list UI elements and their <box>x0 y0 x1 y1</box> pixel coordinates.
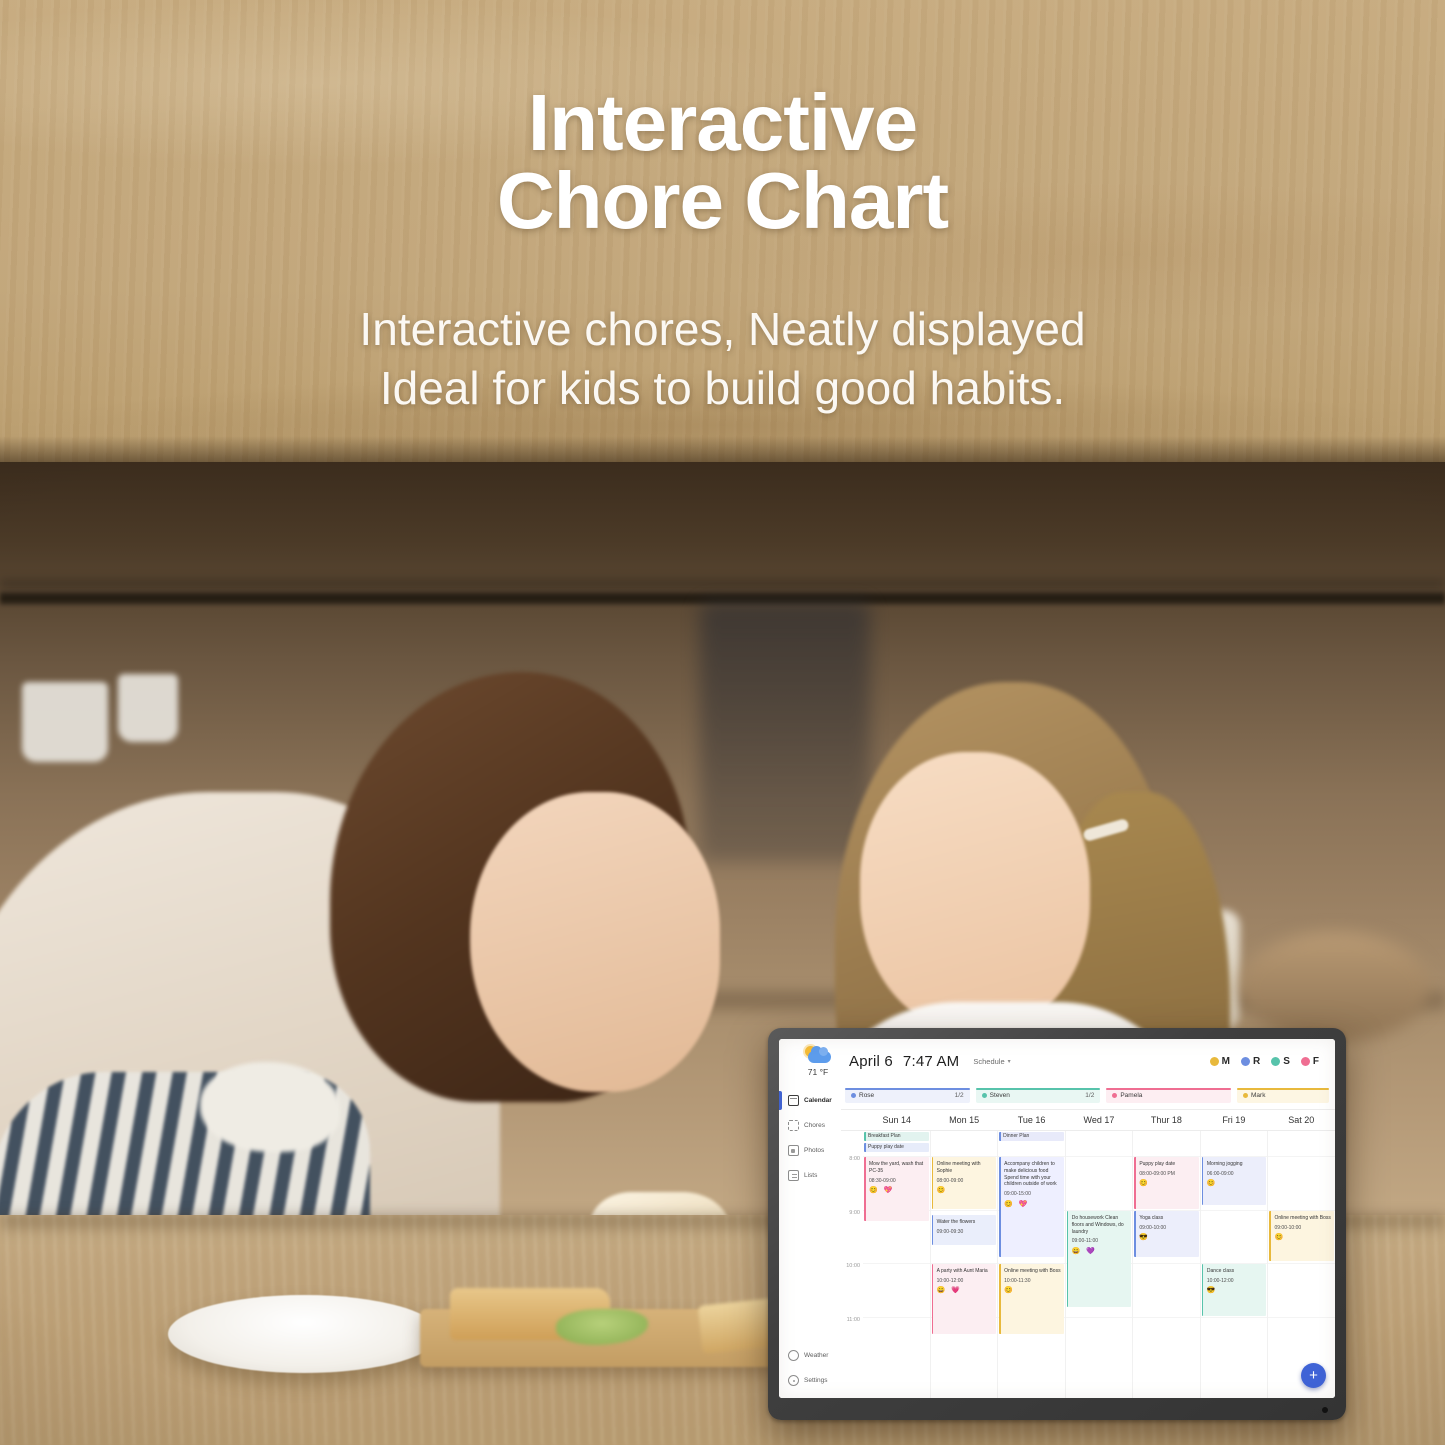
avatar-letter: M <box>1222 1056 1230 1067</box>
calendar-main: Rose 1/2 Steven 1/2 <box>841 1083 1335 1398</box>
avatar-dot <box>1301 1057 1310 1066</box>
event-title: Mow the yard, wash that PC-35 <box>869 1161 926 1175</box>
event-emojis: 😊 <box>1004 1287 1061 1294</box>
event-emojis: 😊 <box>1274 1234 1331 1241</box>
event-time: 08:00-09:00 PM <box>1139 1171 1196 1178</box>
all-day-event[interactable]: Breakfast Plan <box>864 1132 929 1141</box>
app-top-bar: 71 °F April 6 7:47 AM Schedule ▾ M R <box>779 1039 1335 1083</box>
event-accent <box>1202 1264 1204 1316</box>
calendar-event[interactable]: Water the flowers 09:00-09:30 <box>932 1215 997 1245</box>
avatar-letter: R <box>1253 1056 1260 1067</box>
member-name: Steven <box>990 1092 1010 1099</box>
day-header-row: Sun 14 Mon 15 Tue 16 Wed 17 Thur 18 Fri … <box>841 1109 1335 1131</box>
event-title: Accompany children to make delicious foo… <box>1004 1161 1061 1188</box>
member-name: Mark <box>1251 1092 1265 1099</box>
event-title: Online meeting with Boss <box>1004 1268 1061 1275</box>
event-time: 10:00-11:30 <box>1004 1278 1061 1285</box>
day-header-thur[interactable]: Thur 18 <box>1133 1110 1200 1130</box>
event-time: 09:00-10:00 <box>1274 1225 1331 1232</box>
event-accent <box>999 1157 1001 1257</box>
day-header-tue[interactable]: Tue 16 <box>998 1110 1065 1130</box>
time-gutter-spacer <box>841 1110 863 1130</box>
calendar-event[interactable]: Do housework Clean floors and Windows, d… <box>1067 1211 1132 1307</box>
event-accent <box>1202 1157 1204 1205</box>
member-name-wrap: Mark <box>1243 1092 1265 1099</box>
all-day-event[interactable]: Dinner Plan <box>999 1132 1064 1141</box>
event-accent <box>1269 1211 1271 1261</box>
calendar-event[interactable]: Puppy play date 08:00-09:00 PM 😊 <box>1134 1157 1199 1209</box>
sidebar-item-calendar[interactable]: Calendar <box>779 1088 841 1113</box>
chevron-down-icon: ▾ <box>1008 1058 1011 1065</box>
sidebar-item-settings[interactable]: Settings <box>779 1368 841 1398</box>
calendar-event[interactable]: A party with Aunt Maria 10:00-12:00 😄 💗 <box>932 1264 997 1334</box>
time-label: 10:00 <box>846 1263 860 1269</box>
member-accent-bar <box>845 1088 970 1090</box>
gear-icon <box>788 1375 799 1386</box>
banner-bottom-shadow <box>0 436 1445 462</box>
subheadline-line-1: Interactive chores, Neatly displayed <box>359 303 1085 355</box>
subheadline-line-2: Ideal for kids to build good habits. <box>380 362 1065 414</box>
family-calendar-tablet: 71 °F April 6 7:47 AM Schedule ▾ M R <box>768 1028 1346 1420</box>
headline-line-2: Chore Chart <box>0 162 1445 240</box>
view-selector-label: Schedule <box>973 1057 1004 1066</box>
event-title: Water the flowers <box>937 1219 994 1226</box>
event-accent <box>999 1264 1001 1334</box>
chores-icon <box>788 1120 799 1131</box>
time-label: 9:00 <box>849 1210 860 1216</box>
member-accent-bar <box>1237 1088 1329 1090</box>
event-accent <box>932 1215 934 1245</box>
day-header-sat[interactable]: Sat 20 <box>1268 1110 1335 1130</box>
event-time: 08:00-09:00 <box>937 1178 994 1185</box>
event-accent <box>999 1132 1001 1141</box>
day-columns: Breakfast Plan Puppy play date Mow the y… <box>863 1131 1335 1398</box>
member-dot <box>1243 1093 1248 1098</box>
event-accent <box>864 1143 866 1152</box>
event-emojis: 😊 <box>937 1187 994 1194</box>
event-time: 09:00-10:00 <box>1139 1225 1196 1232</box>
member-card-steven[interactable]: Steven 1/2 <box>976 1088 1101 1103</box>
calendar-event[interactable]: Morning jogging 06:00-09:00 😊 <box>1202 1157 1267 1205</box>
event-time: 08:30-09:00 <box>869 1178 926 1185</box>
calendar-event[interactable]: Dance class 10:00-12:00 😎 <box>1202 1264 1267 1316</box>
sidebar-spacer <box>779 1188 841 1343</box>
event-time: 06:00-09:00 <box>1207 1171 1264 1178</box>
event-title: A party with Aunt Maria <box>937 1268 994 1275</box>
sidebar-item-label: Settings <box>804 1377 828 1384</box>
event-emojis: 😄 💜 <box>1072 1248 1129 1255</box>
camera-dot <box>1322 1407 1328 1413</box>
member-name: Rose <box>859 1092 874 1099</box>
time-label: 11:00 <box>847 1317 860 1323</box>
app-body: Calendar Chores Photos Lists <box>779 1083 1335 1398</box>
avatar-dot <box>1241 1057 1250 1066</box>
event-emojis: 😊 💖 <box>869 1187 926 1194</box>
event-time: 09:00-15:00 <box>1004 1191 1061 1198</box>
member-name-wrap: Rose <box>851 1092 874 1099</box>
calendar-event[interactable]: Online meeting with Boss 09:00-10:00 😊 <box>1269 1211 1334 1261</box>
day-header-sun[interactable]: Sun 14 <box>863 1110 930 1130</box>
event-emojis: 😊 💖 <box>1004 1201 1061 1208</box>
tablet-screen: 71 °F April 6 7:47 AM Schedule ▾ M R <box>779 1039 1335 1398</box>
event-title: Yoga class <box>1139 1215 1196 1222</box>
member-accent-bar <box>1106 1088 1231 1090</box>
member-name-wrap: Steven <box>982 1092 1010 1099</box>
day-column-fri: Morning jogging 06:00-09:00 😊 Dance clas… <box>1201 1131 1269 1398</box>
calendar-event[interactable]: Yoga class 09:00-10:00 😎 <box>1134 1211 1199 1257</box>
time-gutter: 8:00 9:00 10:00 11:00 <box>841 1131 863 1398</box>
temperature-label: 71 °F <box>808 1067 828 1077</box>
current-date: April 6 <box>849 1053 893 1070</box>
day-column-sun: Breakfast Plan Puppy play date Mow the y… <box>863 1131 931 1398</box>
sidebar-item-label: Photos <box>804 1147 824 1154</box>
event-accent <box>864 1132 866 1141</box>
weather-icon <box>788 1350 799 1361</box>
member-strip: Rose 1/2 Steven 1/2 <box>841 1083 1335 1109</box>
avatar-dot <box>1271 1057 1280 1066</box>
event-emojis: 😊 <box>1207 1180 1264 1187</box>
event-time: 09:00-09:30 <box>937 1229 994 1236</box>
sidebar-item-chores[interactable]: Chores <box>779 1113 841 1138</box>
sidebar-item-lists[interactable]: Lists <box>779 1163 841 1188</box>
add-event-fab[interactable]: + <box>1301 1363 1326 1388</box>
member-dot <box>851 1093 856 1098</box>
day-header-fri[interactable]: Fri 19 <box>1200 1110 1267 1130</box>
calendar-event[interactable]: Online meeting with Boss 10:00-11:30 😊 <box>999 1264 1064 1334</box>
avatar-letter: F <box>1313 1056 1319 1067</box>
member-name-wrap: Pamela <box>1112 1092 1142 1099</box>
avatar-f[interactable]: F <box>1301 1056 1319 1067</box>
member-dot <box>1112 1093 1117 1098</box>
event-accent <box>1067 1211 1069 1307</box>
event-emojis: 😎 <box>1207 1287 1264 1294</box>
headline: Interactive Chore Chart <box>0 84 1445 239</box>
event-title: Dance class <box>1207 1268 1264 1275</box>
all-day-event-title: Breakfast Plan <box>868 1133 901 1139</box>
time-label: 8:00 <box>849 1156 860 1162</box>
event-title: Morning jogging <box>1207 1161 1264 1168</box>
sidebar-item-photos[interactable]: Photos <box>779 1138 841 1163</box>
sidebar-item-weather[interactable]: Weather <box>779 1343 841 1368</box>
weather-widget[interactable]: 71 °F <box>787 1046 849 1077</box>
member-card-rose[interactable]: Rose 1/2 <box>845 1088 970 1103</box>
member-dot <box>982 1093 987 1098</box>
avatar-m[interactable]: M <box>1210 1056 1230 1067</box>
event-title: Online meeting with Boss <box>1274 1215 1331 1222</box>
event-emojis: 😎 <box>1139 1234 1196 1241</box>
calendar-event[interactable]: Mow the yard, wash that PC-35 08:30-09:0… <box>864 1157 929 1221</box>
event-time: 10:00-12:00 <box>1207 1278 1264 1285</box>
member-progress: 1/2 <box>955 1092 964 1099</box>
day-header-mon[interactable]: Mon 15 <box>930 1110 997 1130</box>
sidebar-item-label: Chores <box>804 1122 825 1129</box>
day-column-wed: Do housework Clean floors and Windows, d… <box>1066 1131 1134 1398</box>
headline-line-1: Interactive <box>528 78 917 167</box>
sidebar-item-label: Calendar <box>804 1097 832 1104</box>
member-card-mark[interactable]: Mark <box>1237 1088 1329 1103</box>
calendar-icon <box>788 1095 799 1106</box>
day-column-mon: Online meeting with Sophie 08:00-09:00 😊… <box>931 1131 999 1398</box>
sidebar-item-label: Lists <box>804 1172 817 1179</box>
event-time: 09:00-11:00 <box>1072 1238 1129 1245</box>
event-time: 10:00-12:00 <box>937 1278 994 1285</box>
event-accent <box>864 1157 866 1221</box>
day-column-thur: Puppy play date 08:00-09:00 PM 😊 Yoga cl… <box>1133 1131 1201 1398</box>
event-title: Online meeting with Sophie <box>937 1161 994 1175</box>
sidebar: Calendar Chores Photos Lists <box>779 1083 841 1398</box>
sun-behind-cloud-icon <box>803 1046 833 1065</box>
event-title: Do housework Clean floors and Windows, d… <box>1072 1215 1129 1235</box>
event-title: Puppy play date <box>1139 1161 1196 1168</box>
event-emojis: 😄 💗 <box>937 1287 994 1294</box>
avatar-letter: S <box>1283 1056 1290 1067</box>
member-avatar-list: M R S F <box>1210 1056 1325 1067</box>
all-day-event-title: Puppy play date <box>868 1144 904 1150</box>
calendar-grid[interactable]: 8:00 9:00 10:00 11:00 <box>841 1131 1335 1398</box>
subheadline: Interactive chores, Neatly displayed Ide… <box>0 300 1445 418</box>
all-day-event-title: Dinner Plan <box>1003 1133 1029 1139</box>
sidebar-item-label: Weather <box>804 1352 828 1359</box>
member-accent-bar <box>976 1088 1101 1090</box>
event-accent <box>1134 1211 1136 1257</box>
event-accent <box>932 1157 934 1209</box>
event-emojis: 😊 <box>1139 1180 1196 1187</box>
avatar-dot <box>1210 1057 1219 1066</box>
view-selector[interactable]: Schedule ▾ <box>973 1057 1010 1066</box>
day-header-wed[interactable]: Wed 17 <box>1065 1110 1132 1130</box>
lists-icon <box>788 1170 799 1181</box>
member-progress: 1/2 <box>1085 1092 1094 1099</box>
current-time: 7:47 AM <box>903 1053 959 1070</box>
member-card-pamela[interactable]: Pamela <box>1106 1088 1231 1103</box>
cloud-icon <box>808 1051 831 1063</box>
member-name: Pamela <box>1120 1092 1142 1099</box>
day-column-sat: Online meeting with Boss 09:00-10:00 😊 <box>1268 1131 1335 1398</box>
photos-icon <box>788 1145 799 1156</box>
all-day-event[interactable]: Puppy play date <box>864 1143 929 1152</box>
day-column-tue: Dinner Plan Accompany children to make d… <box>998 1131 1066 1398</box>
product-listing-image: Interactive Chore Chart Interactive chor… <box>0 0 1445 1445</box>
calendar-event[interactable]: Online meeting with Sophie 08:00-09:00 😊 <box>932 1157 997 1209</box>
avatar-r[interactable]: R <box>1241 1056 1260 1067</box>
event-accent <box>932 1264 934 1334</box>
avatar-s[interactable]: S <box>1271 1056 1290 1067</box>
calendar-event[interactable]: Accompany children to make delicious foo… <box>999 1157 1064 1257</box>
event-accent <box>1134 1157 1136 1209</box>
